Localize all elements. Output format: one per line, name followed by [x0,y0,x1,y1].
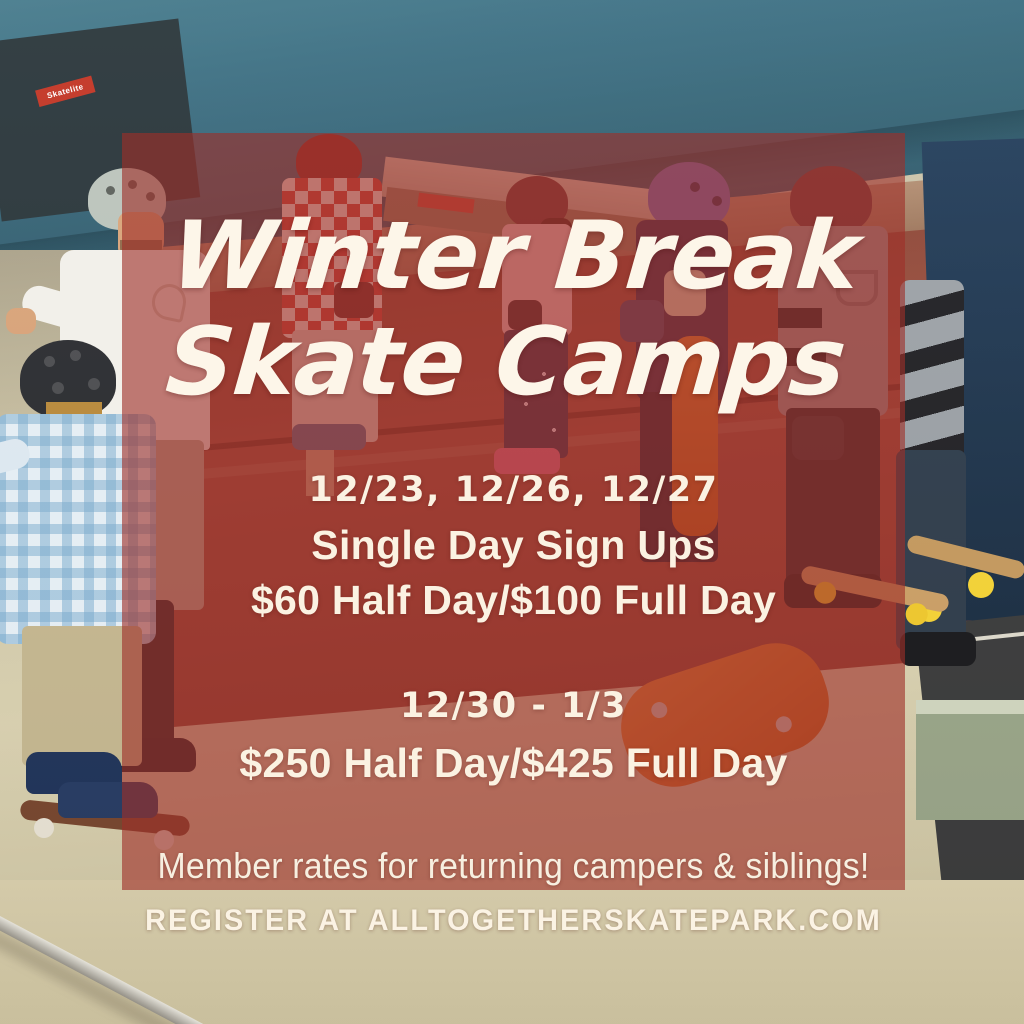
helmet-vent [88,378,100,390]
register-cta: REGISTER AT ALLTOGETHERSKATEPARK.COM [138,904,890,938]
session-1-pricing: $60 Half Day/$100 Full Day [251,577,776,624]
session-2-block: 12/30 - 1/3 $250 Half Day/$425 Full Day [239,686,787,787]
helmet-vent [106,186,115,195]
instructor-hand [6,308,36,334]
session-1-block: 12/23, 12/26, 12/27 Single Day Sign Ups … [251,470,776,632]
member-rates-note: Member rates for returning campers & sib… [145,845,881,887]
poster-headline: Winter Break Skate Camps [110,133,917,412]
poster-footer: Member rates for returning campers & sib… [122,845,905,938]
helmet-vent [52,382,64,394]
striped-sleeve [900,280,964,470]
session-2-dates: 12/30 - 1/3 [239,686,787,726]
helmet-vent [44,356,55,367]
session-1-dates: 12/23, 12/26, 12/27 [251,470,776,510]
poster-text-content: Winter Break Skate Camps 12/23, 12/26, 1… [122,133,905,890]
green-ledge-top [916,700,1024,714]
skateboard-wheel [34,818,54,838]
promo-poster: Skatelite [0,0,1024,1024]
skateboard-wheel-yellow [968,572,994,598]
green-ledge-block [916,700,1024,820]
session-2-pricing: $250 Half Day/$425 Full Day [239,740,787,787]
headline-line-2: Skate Camps [110,313,902,413]
child-shoe [900,632,976,666]
sticker-label: Skatelite [35,76,95,107]
session-1-type: Single Day Sign Ups [251,522,776,569]
helmet-vent [70,350,81,361]
headline-line-1: Winter Break [119,207,911,307]
skatelite-sticker: Skatelite [35,76,95,107]
